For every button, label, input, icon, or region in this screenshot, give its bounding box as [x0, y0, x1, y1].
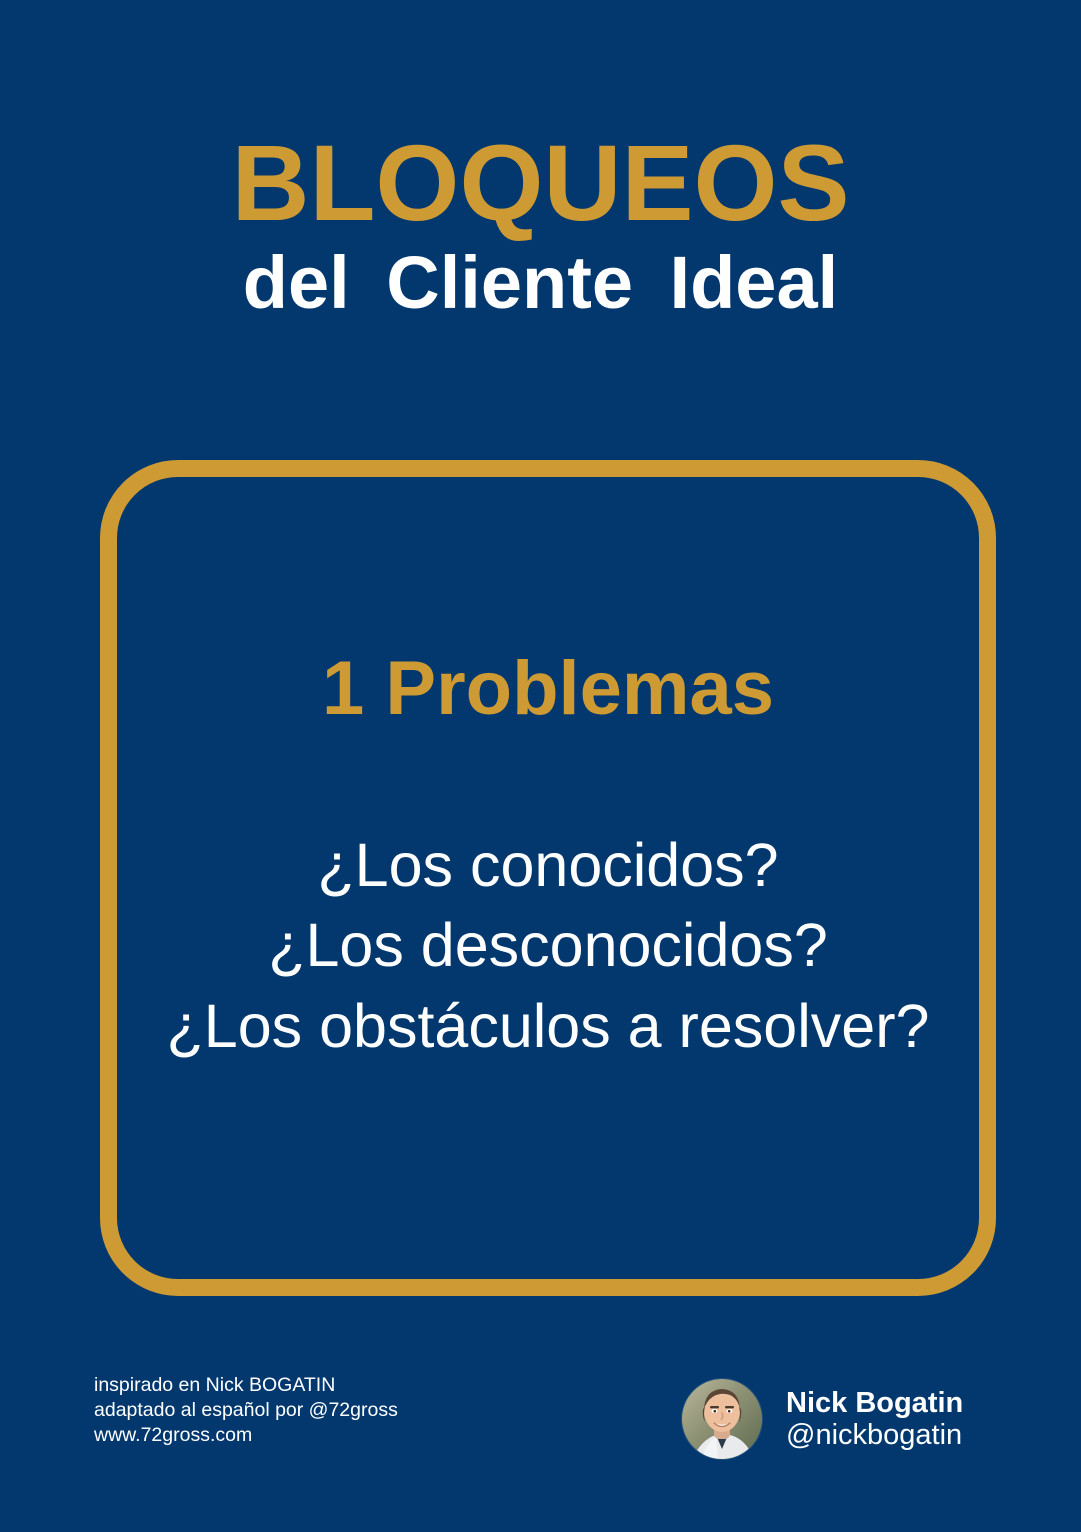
credits-block: inspirado en Nick BOGATIN adaptado al es… — [94, 1373, 398, 1448]
card-heading: 1 Problemas — [322, 649, 774, 729]
question-item: ¿Los obstáculos a resolver? — [167, 986, 930, 1067]
author-handle: @nickbogatin — [786, 1419, 963, 1451]
credit-line-inspiration: inspirado en Nick BOGATIN — [94, 1373, 398, 1398]
author-text: Nick Bogatin @nickbogatin — [786, 1387, 963, 1452]
author-name: Nick Bogatin — [786, 1387, 963, 1419]
question-item: ¿Los conocidos? — [167, 825, 930, 906]
portrait-photo-avatar-icon — [682, 1379, 762, 1459]
content-card-body: 1 Problemas ¿Los conocidos? ¿Los descono… — [117, 477, 979, 1279]
author-block: Nick Bogatin @nickbogatin — [682, 1379, 963, 1459]
content-card: 1 Problemas ¿Los conocidos? ¿Los descono… — [100, 460, 996, 1296]
credit-line-website: www.72gross.com — [94, 1423, 398, 1448]
page-subtitle: del Cliente Ideal — [0, 242, 1081, 325]
credit-line-adaptation: adaptado al español por @72gross — [94, 1398, 398, 1423]
poster-footer: inspirado en Nick BOGATIN adaptado al es… — [0, 1372, 1081, 1532]
question-item: ¿Los desconocidos? — [167, 905, 930, 986]
avatar — [682, 1379, 762, 1459]
page-title: BLOQUEOS — [0, 128, 1081, 238]
poster-canvas: BLOQUEOS del Cliente Ideal 1 Problemas ¿… — [0, 0, 1081, 1532]
question-list: ¿Los conocidos? ¿Los desconocidos? ¿Los … — [167, 825, 930, 1067]
poster-header: BLOQUEOS del Cliente Ideal — [0, 128, 1081, 325]
